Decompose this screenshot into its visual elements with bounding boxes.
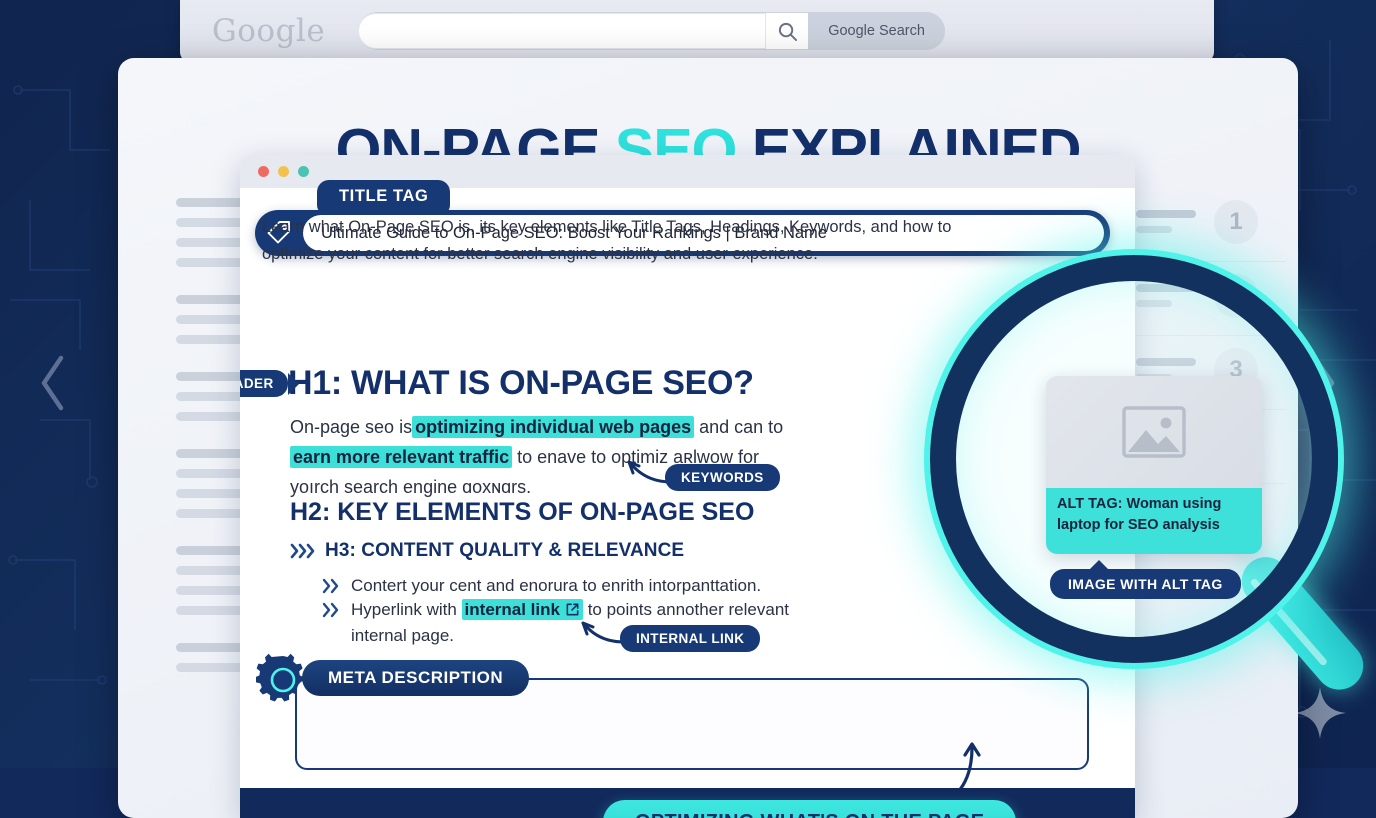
browser-window-mockup: TITLE TAG Ultimate Guide to On-Page SEO:…: [240, 155, 1135, 818]
h2-heading: H2: KEY ELEMENTS OF ON-PAGE SEO: [290, 498, 754, 527]
paragraph-seg1: On-page seo is: [290, 417, 412, 437]
cta-pill[interactable]: OPTIMIZING WHAT'S ON THE PAGE: [603, 800, 1016, 818]
number-badge: 3: [1214, 348, 1258, 392]
google-search-button[interactable]: Google Search: [808, 12, 945, 50]
list-item[interactable]: [1136, 410, 1286, 484]
search-icon[interactable]: [766, 13, 808, 49]
chevrons-right-icon: [322, 602, 341, 618]
window-maximize-dot[interactable]: [298, 166, 309, 177]
window-close-dot[interactable]: [258, 166, 269, 177]
keyword-highlight-2: earn more relevant traffic: [290, 446, 512, 468]
google-search-bar: Google Google Search: [180, 0, 1214, 62]
sparkle-icon: [1292, 685, 1348, 746]
h1-header-badge: H1 HEADER: [240, 370, 288, 397]
title-tag-badge: TITLE TAG: [317, 180, 450, 215]
bullet-prefix: Hyperlink with: [351, 600, 462, 619]
internal-link-highlight[interactable]: internal link: [462, 599, 583, 620]
search-input[interactable]: [358, 13, 766, 49]
h1-heading: H1: WHAT IS ON-PAGE SEO?: [288, 364, 754, 403]
chevrons-right-icon: [290, 542, 316, 560]
internal-link-text: internal link: [465, 600, 560, 619]
right-numbered-column: 1 2 3: [1136, 188, 1286, 484]
search-control-group: Google Search: [358, 12, 945, 50]
h3-heading: H3: CONTENT QUALITY & RELEVANCE: [325, 540, 684, 562]
meta-description-badge: META DESCRIPTION: [302, 660, 529, 696]
list-item[interactable]: 1: [1136, 188, 1286, 262]
chevron-right-icon[interactable]: [1306, 352, 1340, 419]
keywords-badge: KEYWORDS: [665, 464, 780, 491]
h3-heading-row: H3: CONTENT QUALITY & RELEVANCE: [290, 540, 684, 562]
internal-link-badge: INTERNAL LINK: [620, 625, 760, 652]
main-content-card: ON-PAGE SEO EXPLAINED 1: [118, 58, 1298, 818]
list-item[interactable]: 2: [1136, 262, 1286, 336]
google-logo: Google: [212, 13, 325, 49]
bullet-text: Contert your cent and enorura to enrith …: [351, 573, 761, 599]
chevron-left-icon[interactable]: [36, 352, 70, 419]
chevrons-right-icon: [322, 578, 341, 594]
number-badge: 2: [1214, 274, 1258, 318]
external-link-icon: [565, 602, 580, 617]
browser-content: TITLE TAG Ultimate Guide to On-Page SEO:…: [240, 188, 1135, 818]
bullet-item: Contert your cent and enorura to enrith …: [322, 573, 822, 599]
paragraph-seg2: and can to: [694, 417, 783, 437]
number-badge: 1: [1214, 200, 1258, 244]
internal-link-arrow-icon: [580, 618, 626, 646]
list-item[interactable]: 3: [1136, 336, 1286, 410]
meta-description-text: Learn what On-Page SEO is, its key eleme…: [262, 214, 1002, 268]
window-minimize-dot[interactable]: [278, 166, 289, 177]
keyword-highlight-1: optimizing individual web pages: [412, 416, 694, 438]
